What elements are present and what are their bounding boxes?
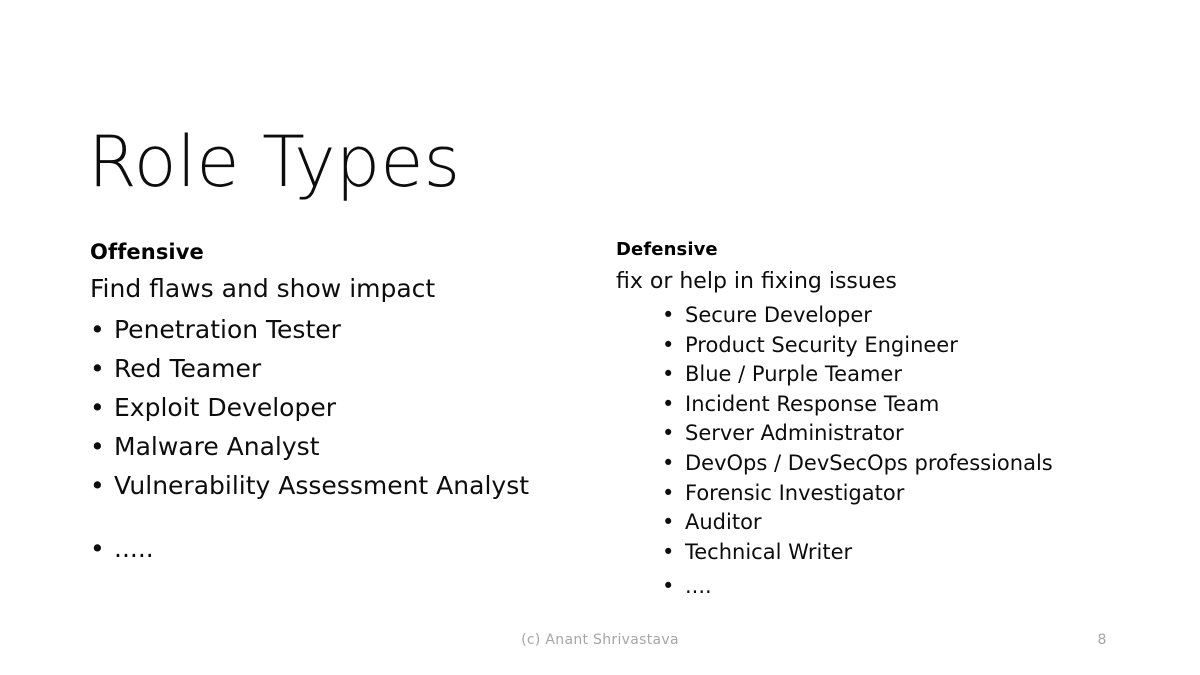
list-item-label: Auditor <box>685 510 762 534</box>
bullet-icon: • <box>662 360 674 390</box>
bullet-icon: • <box>90 349 105 388</box>
list-item: • Blue / Purple Teamer <box>662 360 1086 390</box>
bullet-icon: • <box>90 529 105 568</box>
list-item: • .... <box>662 572 1086 602</box>
offensive-subtitle: Find flaws and show impact <box>90 270 590 308</box>
offensive-column: Offensive Find flaws and show impact • P… <box>90 238 590 568</box>
list-item-label: Vulnerability Assessment Analyst <box>114 471 529 500</box>
list-item: • Technical Writer <box>662 538 1086 568</box>
bullet-icon: • <box>90 310 105 349</box>
bullet-icon: • <box>90 388 105 427</box>
footer-credit: (c) Anant Shrivastava <box>0 632 1200 648</box>
list-item-label: Malware Analyst <box>114 432 320 461</box>
list-item: • ..... <box>90 529 590 568</box>
bullet-icon: • <box>662 538 674 568</box>
bullet-icon: • <box>662 301 674 331</box>
list-item: • Red Teamer <box>90 349 590 388</box>
list-item: • Server Administrator <box>662 419 1086 449</box>
bullet-icon: • <box>662 449 674 479</box>
list-item: • Secure Developer <box>662 301 1086 331</box>
list-item-label: Red Teamer <box>114 354 261 383</box>
bullet-icon: • <box>662 479 674 509</box>
list-item-label: Technical Writer <box>685 540 852 564</box>
defensive-column: Defensive fix or help in fixing issues •… <box>616 238 1086 602</box>
bullet-icon: • <box>662 331 674 361</box>
list-item-label: Exploit Developer <box>114 393 336 422</box>
list-item: • Forensic Investigator <box>662 479 1086 509</box>
bullet-icon: • <box>90 427 105 466</box>
page-number: 8 <box>1080 632 1124 648</box>
list-item-label: Penetration Tester <box>114 315 341 344</box>
bullet-icon: • <box>662 419 674 449</box>
offensive-heading: Offensive <box>90 238 590 266</box>
list-item-label: ..... <box>114 534 154 563</box>
list-item: • Product Security Engineer <box>662 331 1086 361</box>
defensive-list: • Secure Developer • Product Security En… <box>616 301 1086 602</box>
slide: Role Types Offensive Find flaws and show… <box>0 0 1200 675</box>
list-item-label: Forensic Investigator <box>685 481 904 505</box>
bullet-icon: • <box>662 572 674 602</box>
bullet-icon: • <box>90 466 105 505</box>
list-item: • Exploit Developer <box>90 388 590 427</box>
list-item-label: Product Security Engineer <box>685 333 958 357</box>
list-item: • DevOps / DevSecOps professionals <box>662 449 1086 479</box>
list-item-label: .... <box>685 574 712 598</box>
list-item-label: Server Administrator <box>685 421 904 445</box>
list-item-label: DevOps / DevSecOps professionals <box>685 451 1053 475</box>
list-item: • Malware Analyst <box>90 427 590 466</box>
list-item: • Incident Response Team <box>662 390 1086 420</box>
defensive-subtitle: fix or help in fixing issues <box>616 265 1086 298</box>
page-title: Role Types <box>88 125 460 201</box>
list-item-label: Secure Developer <box>685 303 872 327</box>
list-item-label: Incident Response Team <box>685 392 939 416</box>
offensive-list: • Penetration Tester • Red Teamer • Expl… <box>90 310 590 568</box>
list-item: • Vulnerability Assessment Analyst <box>90 466 590 505</box>
bullet-icon: • <box>662 508 674 538</box>
bullet-icon: • <box>662 390 674 420</box>
list-item: • Penetration Tester <box>90 310 590 349</box>
defensive-heading: Defensive <box>616 238 1086 262</box>
list-item: • Auditor <box>662 508 1086 538</box>
list-item-label: Blue / Purple Teamer <box>685 362 902 386</box>
